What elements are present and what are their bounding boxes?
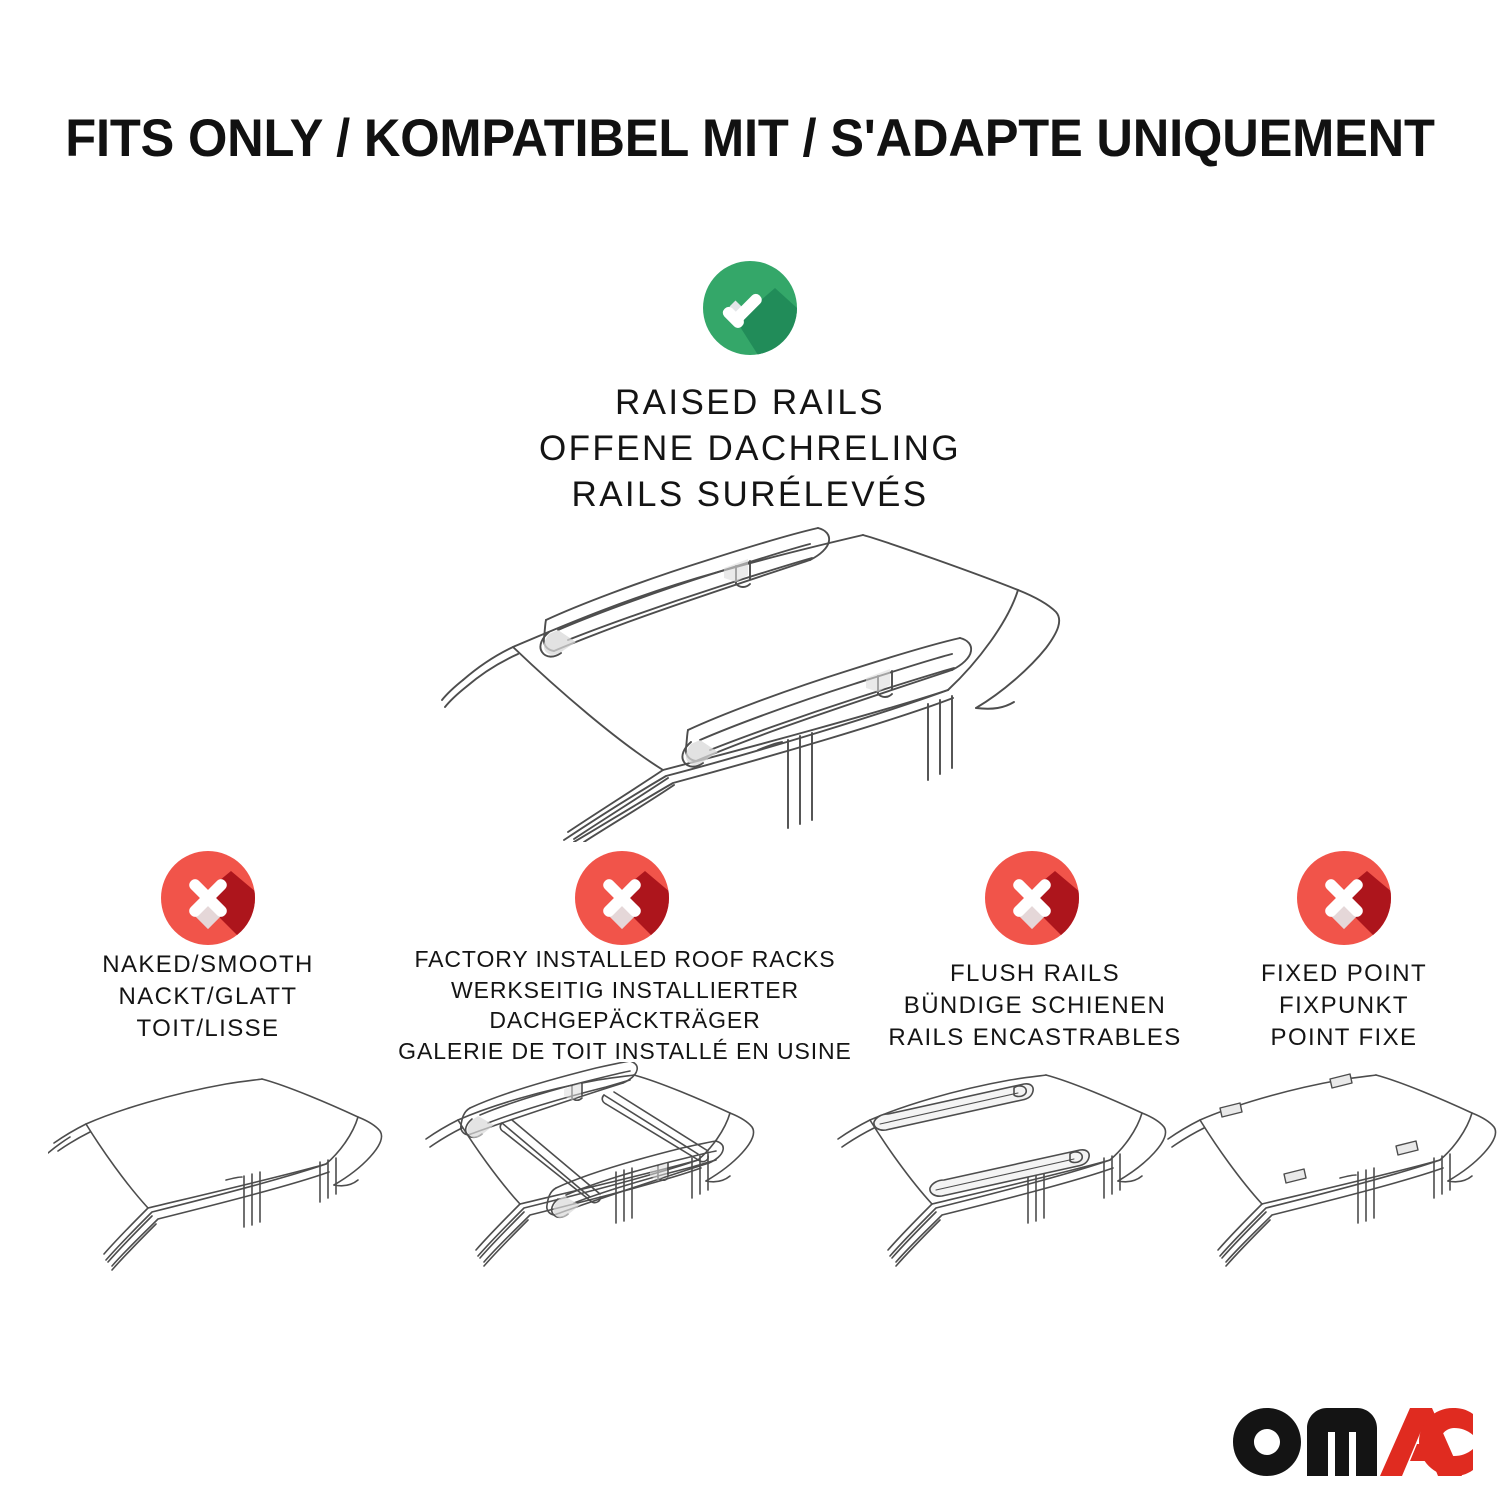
- compatible-label-line-2: OFFENE DACHRELING: [250, 426, 1250, 472]
- page-title: FITS ONLY / KOMPATIBEL MIT / S'ADAPTE UN…: [34, 108, 1467, 169]
- flush-rails-label: FLUSH RAILS BÜNDIGE SCHIENEN RAILS ENCAS…: [855, 958, 1215, 1054]
- fixed-point-label-line-1: FIXED POINT: [1164, 958, 1500, 990]
- fixed-point-label: FIXED POINT FIXPUNKT POINT FIXE: [1164, 958, 1500, 1054]
- flush-rails-label-line-3: RAILS ENCASTRABLES: [855, 1022, 1215, 1054]
- naked-smooth-label-line-1: NAKED/SMOOTH: [28, 949, 388, 981]
- factory-roof-rack-label: FACTORY INSTALLED ROOF RACKS WERKSEITIG …: [385, 944, 865, 1066]
- factory-roof-rack-label-line-1: FACTORY INSTALLED ROOF RACKS: [385, 944, 865, 975]
- flush-rails-label-line-1: FLUSH RAILS: [855, 958, 1215, 990]
- naked-smooth-label-line-3: TOIT/LISSE: [28, 1013, 388, 1045]
- cross-circle-icon: [1297, 851, 1391, 945]
- cross-circle-icon: [575, 851, 669, 945]
- compatible-label: RAISED RAILS OFFENE DACHRELING RAILS SUR…: [250, 380, 1250, 519]
- flush-rails-roof-diagram: [818, 1062, 1198, 1282]
- compatible-label-line-1: RAISED RAILS: [250, 380, 1250, 426]
- fixed-point-label-line-2: FIXPUNKT: [1164, 990, 1500, 1022]
- check-circle-icon: [703, 261, 797, 355]
- raised-rails-roof-diagram: [418, 512, 1088, 842]
- logo-letter-m: [1307, 1408, 1377, 1476]
- flush-rails-label-line-2: BÜNDIGE SCHIENEN: [855, 990, 1215, 1022]
- factory-roof-rack-label-line-3: DACHGEPÄCKTRÄGER: [385, 1005, 865, 1036]
- naked-smooth-label-line-2: NACKT/GLATT: [28, 981, 388, 1013]
- cross-circle-icon: [985, 851, 1079, 945]
- factory-roof-rack-label-line-2: WERKSEITIG INSTALLIERTER: [385, 975, 865, 1006]
- logo-letter-o: [1233, 1408, 1301, 1476]
- cross-circle-icon: [161, 851, 255, 945]
- factory-roof-rack-diagram: [408, 1062, 788, 1282]
- naked-smooth-label: NAKED/SMOOTH NACKT/GLATT TOIT/LISSE: [28, 949, 388, 1045]
- fixed-point-roof-diagram: [1158, 1062, 1500, 1282]
- naked-smooth-roof-diagram: [48, 1062, 408, 1282]
- omac-logo: [1232, 1404, 1474, 1478]
- fitment-infographic: FITS ONLY / KOMPATIBEL MIT / S'ADAPTE UN…: [0, 0, 1500, 1500]
- fixed-point-label-line-3: POINT FIXE: [1164, 1022, 1500, 1054]
